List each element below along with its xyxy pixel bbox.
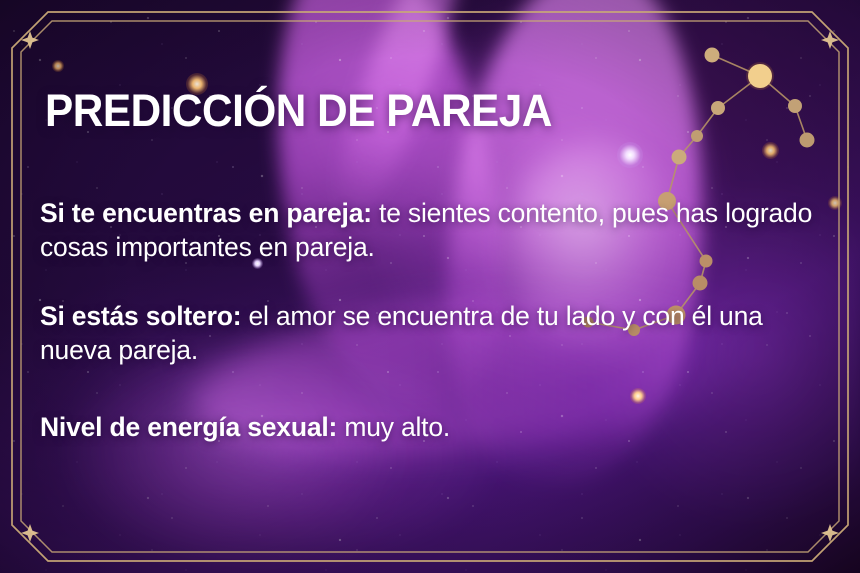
- paragraph-lead: Si te encuentras en pareja:: [40, 198, 372, 228]
- paragraph-lead: Si estás soltero:: [40, 301, 241, 331]
- paragraph-body: muy alto.: [337, 412, 450, 442]
- horoscope-prediction-card: PREDICCIÓN DE PAREJA Si te encuentras en…: [0, 0, 860, 573]
- paragraph-single: Si estás soltero: el amor se encuentra d…: [40, 299, 830, 368]
- poster-content: PREDICCIÓN DE PAREJA Si te encuentras en…: [0, 0, 860, 573]
- paragraph-in-relationship: Si te encuentras en pareja: te sientes c…: [40, 196, 830, 265]
- page-title: PREDICCIÓN DE PAREJA: [45, 88, 552, 133]
- prediction-paragraphs: Si te encuentras en pareja: te sientes c…: [40, 196, 830, 444]
- paragraph-energy-level: Nivel de energía sexual: muy alto.: [40, 410, 830, 444]
- paragraph-lead: Nivel de energía sexual:: [40, 412, 337, 442]
